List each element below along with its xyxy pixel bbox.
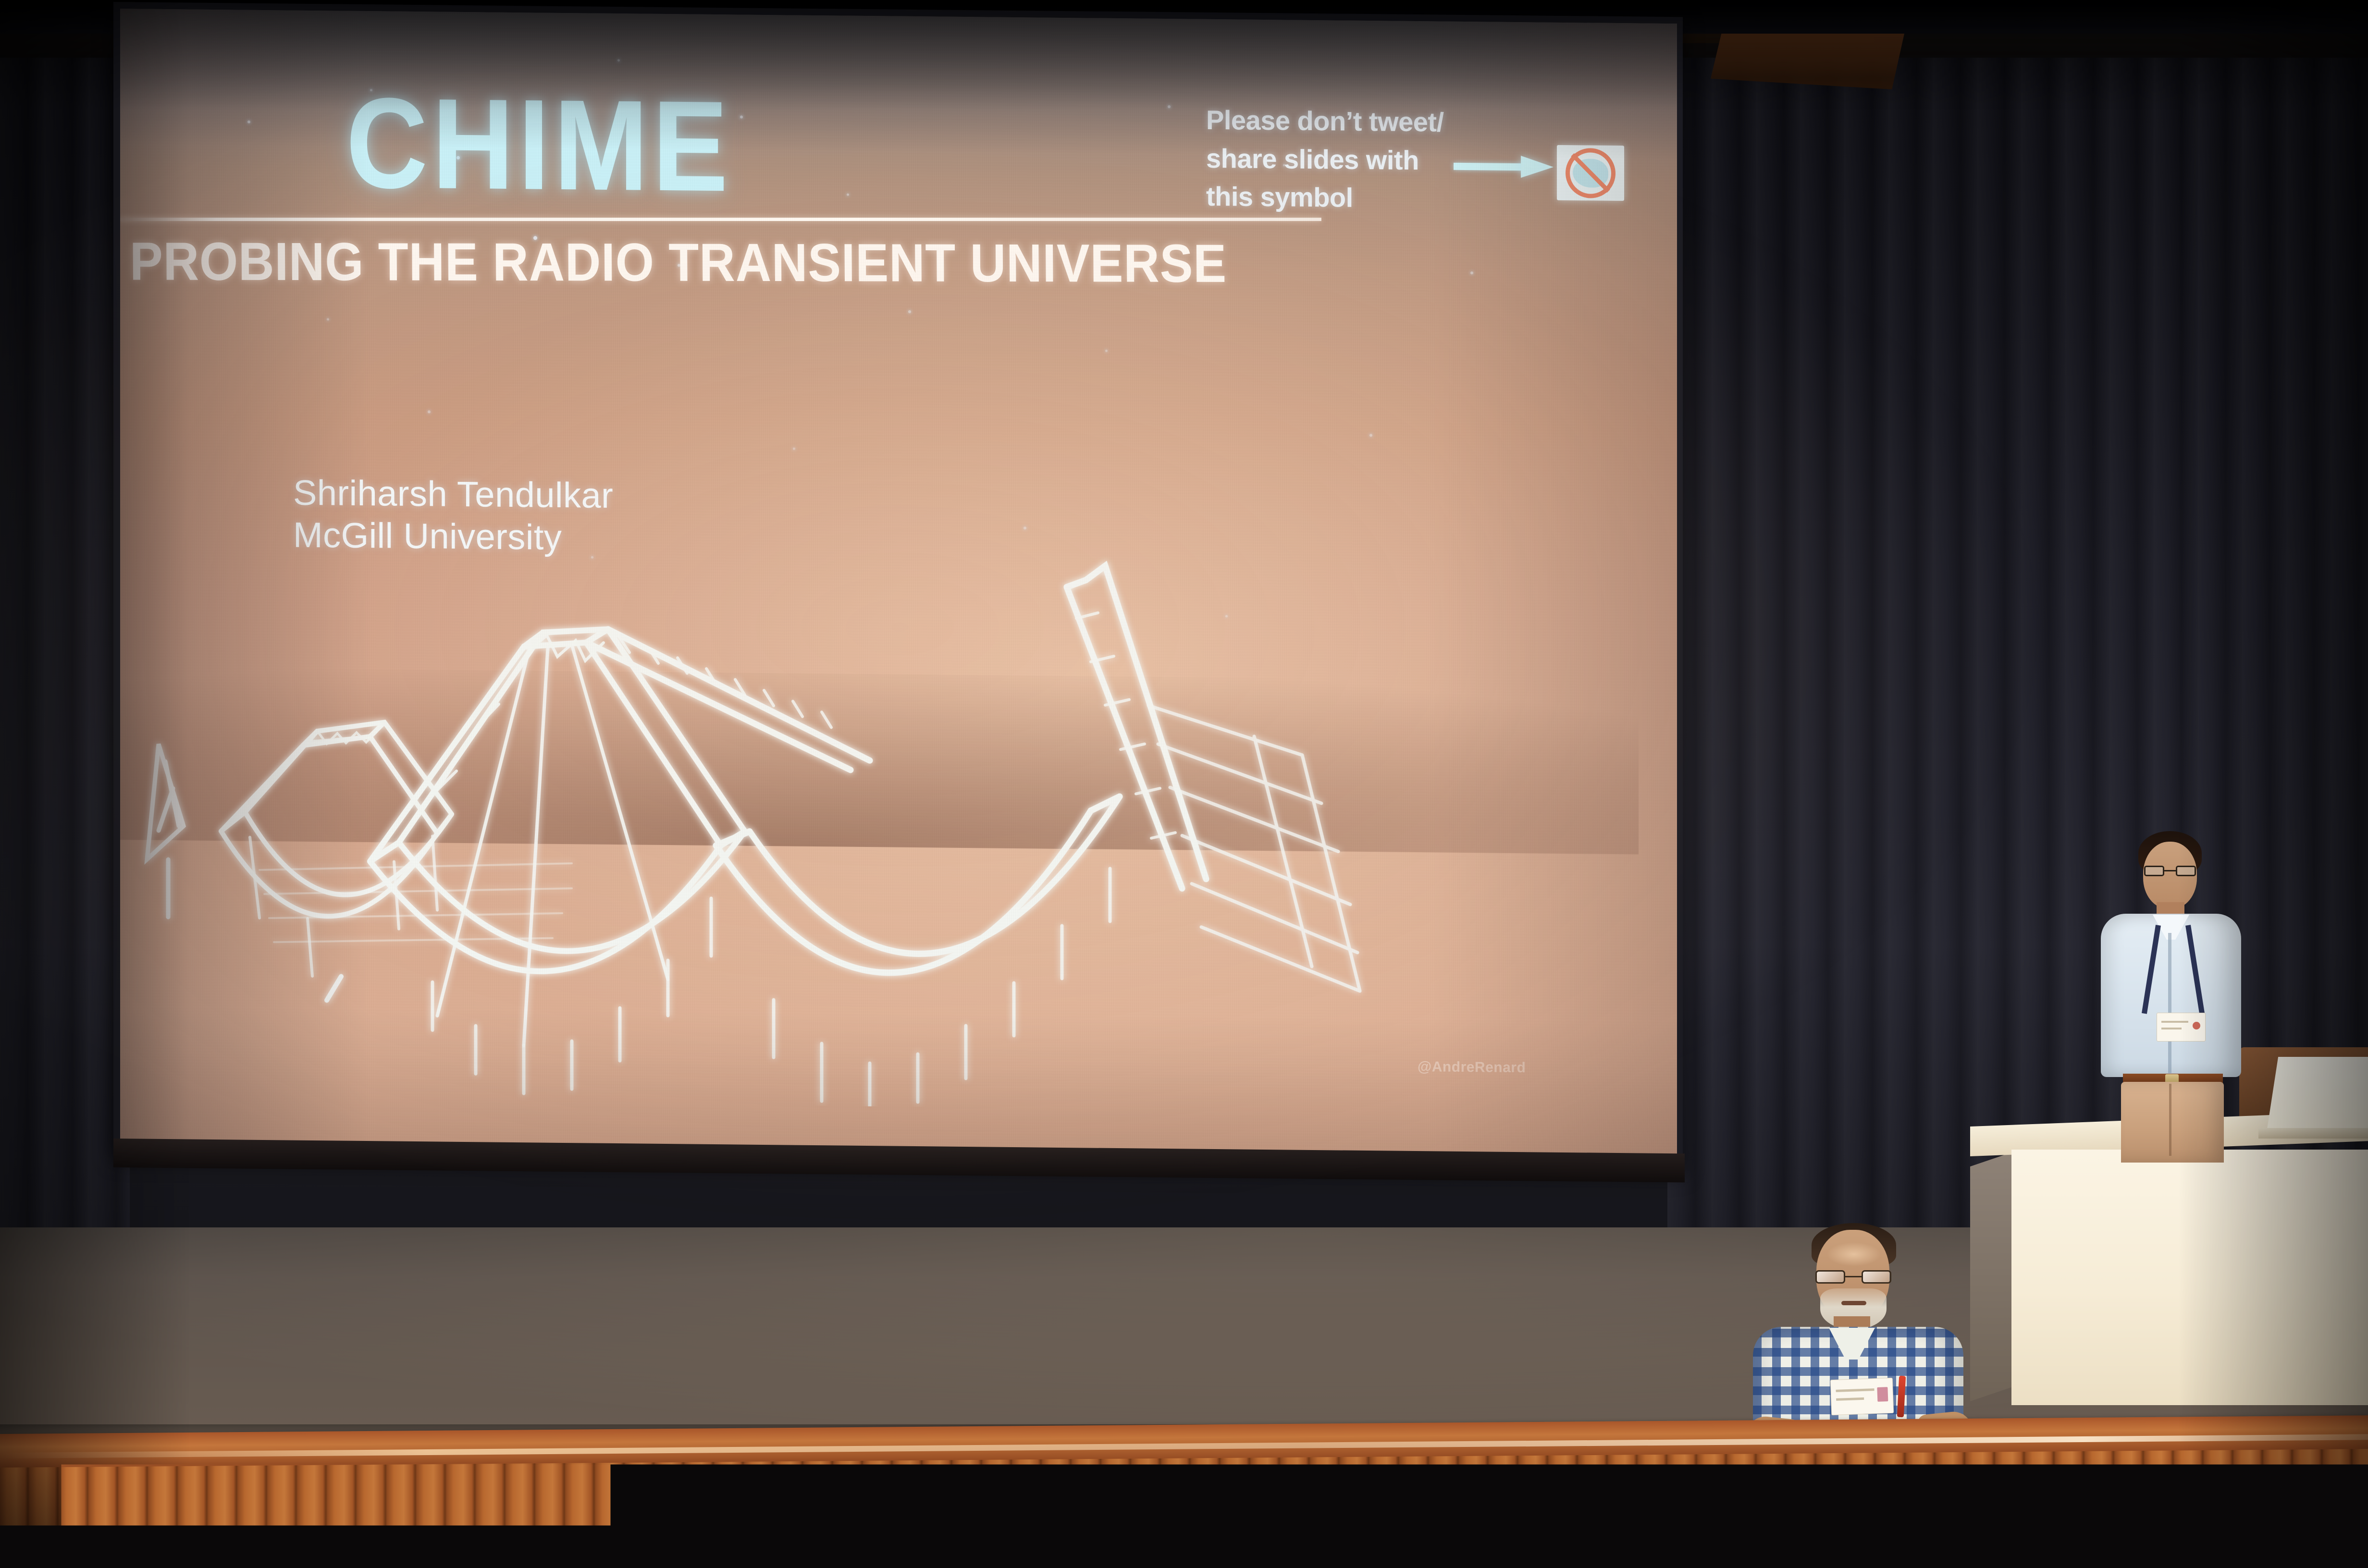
- star: [740, 116, 743, 119]
- badge-line: [2161, 1021, 2188, 1023]
- slide-title: CHIME: [346, 78, 732, 211]
- lens-right: [1862, 1270, 1891, 1284]
- no-tweet-notice: Please don’t tweet/ share slides with th…: [1206, 101, 1456, 218]
- laptop-screen: [2267, 1057, 2368, 1129]
- badge-line: [1836, 1388, 1874, 1392]
- lens-right: [2176, 866, 2196, 876]
- star: [1470, 271, 1473, 274]
- paper-on-rail: [1634, 1477, 1669, 1497]
- badge-line: [1836, 1397, 1864, 1401]
- projection-surface: CHIME PROBING THE RADIO TRANSIENT UNIVER…: [120, 9, 1677, 1157]
- stage-curtain-left: [0, 0, 130, 1259]
- slide: CHIME PROBING THE RADIO TRANSIENT UNIVER…: [120, 9, 1677, 1157]
- star: [1105, 350, 1108, 352]
- star: [428, 410, 431, 413]
- star: [793, 448, 795, 450]
- badge-dot: [2193, 1022, 2200, 1029]
- title-divider-rule: [120, 218, 1321, 221]
- podium: [1970, 1127, 2368, 1405]
- star: [617, 59, 620, 61]
- projection-screen: CHIME PROBING THE RADIO TRANSIENT UNIVER…: [113, 2, 1683, 1170]
- right-arrow-icon: [1454, 155, 1554, 178]
- podium-front-panel: [2011, 1150, 2368, 1405]
- slide-subtitle: PROBING THE RADIO TRANSIENT UNIVERSE: [130, 234, 1227, 291]
- no-tweet-notice-line-1: Please don’t tweet/: [1206, 101, 1456, 142]
- eyeglasses-icon: [2144, 866, 2196, 876]
- speaker-trousers: [2121, 1082, 2224, 1163]
- device-on-rail: [1950, 1469, 1995, 1494]
- wood-slat-panel: [0, 1449, 2368, 1568]
- star: [1369, 434, 1372, 437]
- chime-telescope-artwork: [120, 494, 1610, 1114]
- star: [1168, 105, 1171, 108]
- star: [847, 194, 849, 196]
- lens-left: [2144, 866, 2164, 876]
- no-tweet-notice-line-2: share slides with: [1206, 139, 1456, 180]
- laptop: [2267, 1057, 2368, 1139]
- attendee-mouth: [1841, 1301, 1866, 1305]
- photo-scene: CHIME PROBING THE RADIO TRANSIENT UNIVER…: [0, 0, 2368, 1568]
- star: [247, 121, 250, 123]
- star: [908, 310, 911, 313]
- lens-left: [1815, 1270, 1845, 1284]
- standing-speaker: [2071, 812, 2254, 1158]
- laptop-base: [2258, 1128, 2368, 1139]
- glasses-bridge: [2164, 870, 2176, 871]
- arrow-head: [1521, 156, 1554, 178]
- speaker-name-badge: [2157, 1013, 2206, 1041]
- attendee-name-badge: [1830, 1378, 1894, 1415]
- speaker-shirt-placket: [2168, 933, 2171, 1073]
- forehead-highlight: [1827, 1242, 1881, 1266]
- arrow-shaft: [1454, 163, 1526, 171]
- trouser-seam: [2169, 1084, 2171, 1156]
- glasses-bridge: [1845, 1276, 1862, 1277]
- badge-mark: [1877, 1387, 1888, 1402]
- no-tweet-icon: [1557, 145, 1624, 201]
- no-tweet-notice-line-3: this symbol: [1206, 177, 1456, 218]
- star: [327, 318, 329, 320]
- badge-line: [2161, 1028, 2182, 1029]
- eyeglasses-icon: [1815, 1270, 1891, 1284]
- photo-credit: @AndreRenard: [1418, 1059, 1526, 1076]
